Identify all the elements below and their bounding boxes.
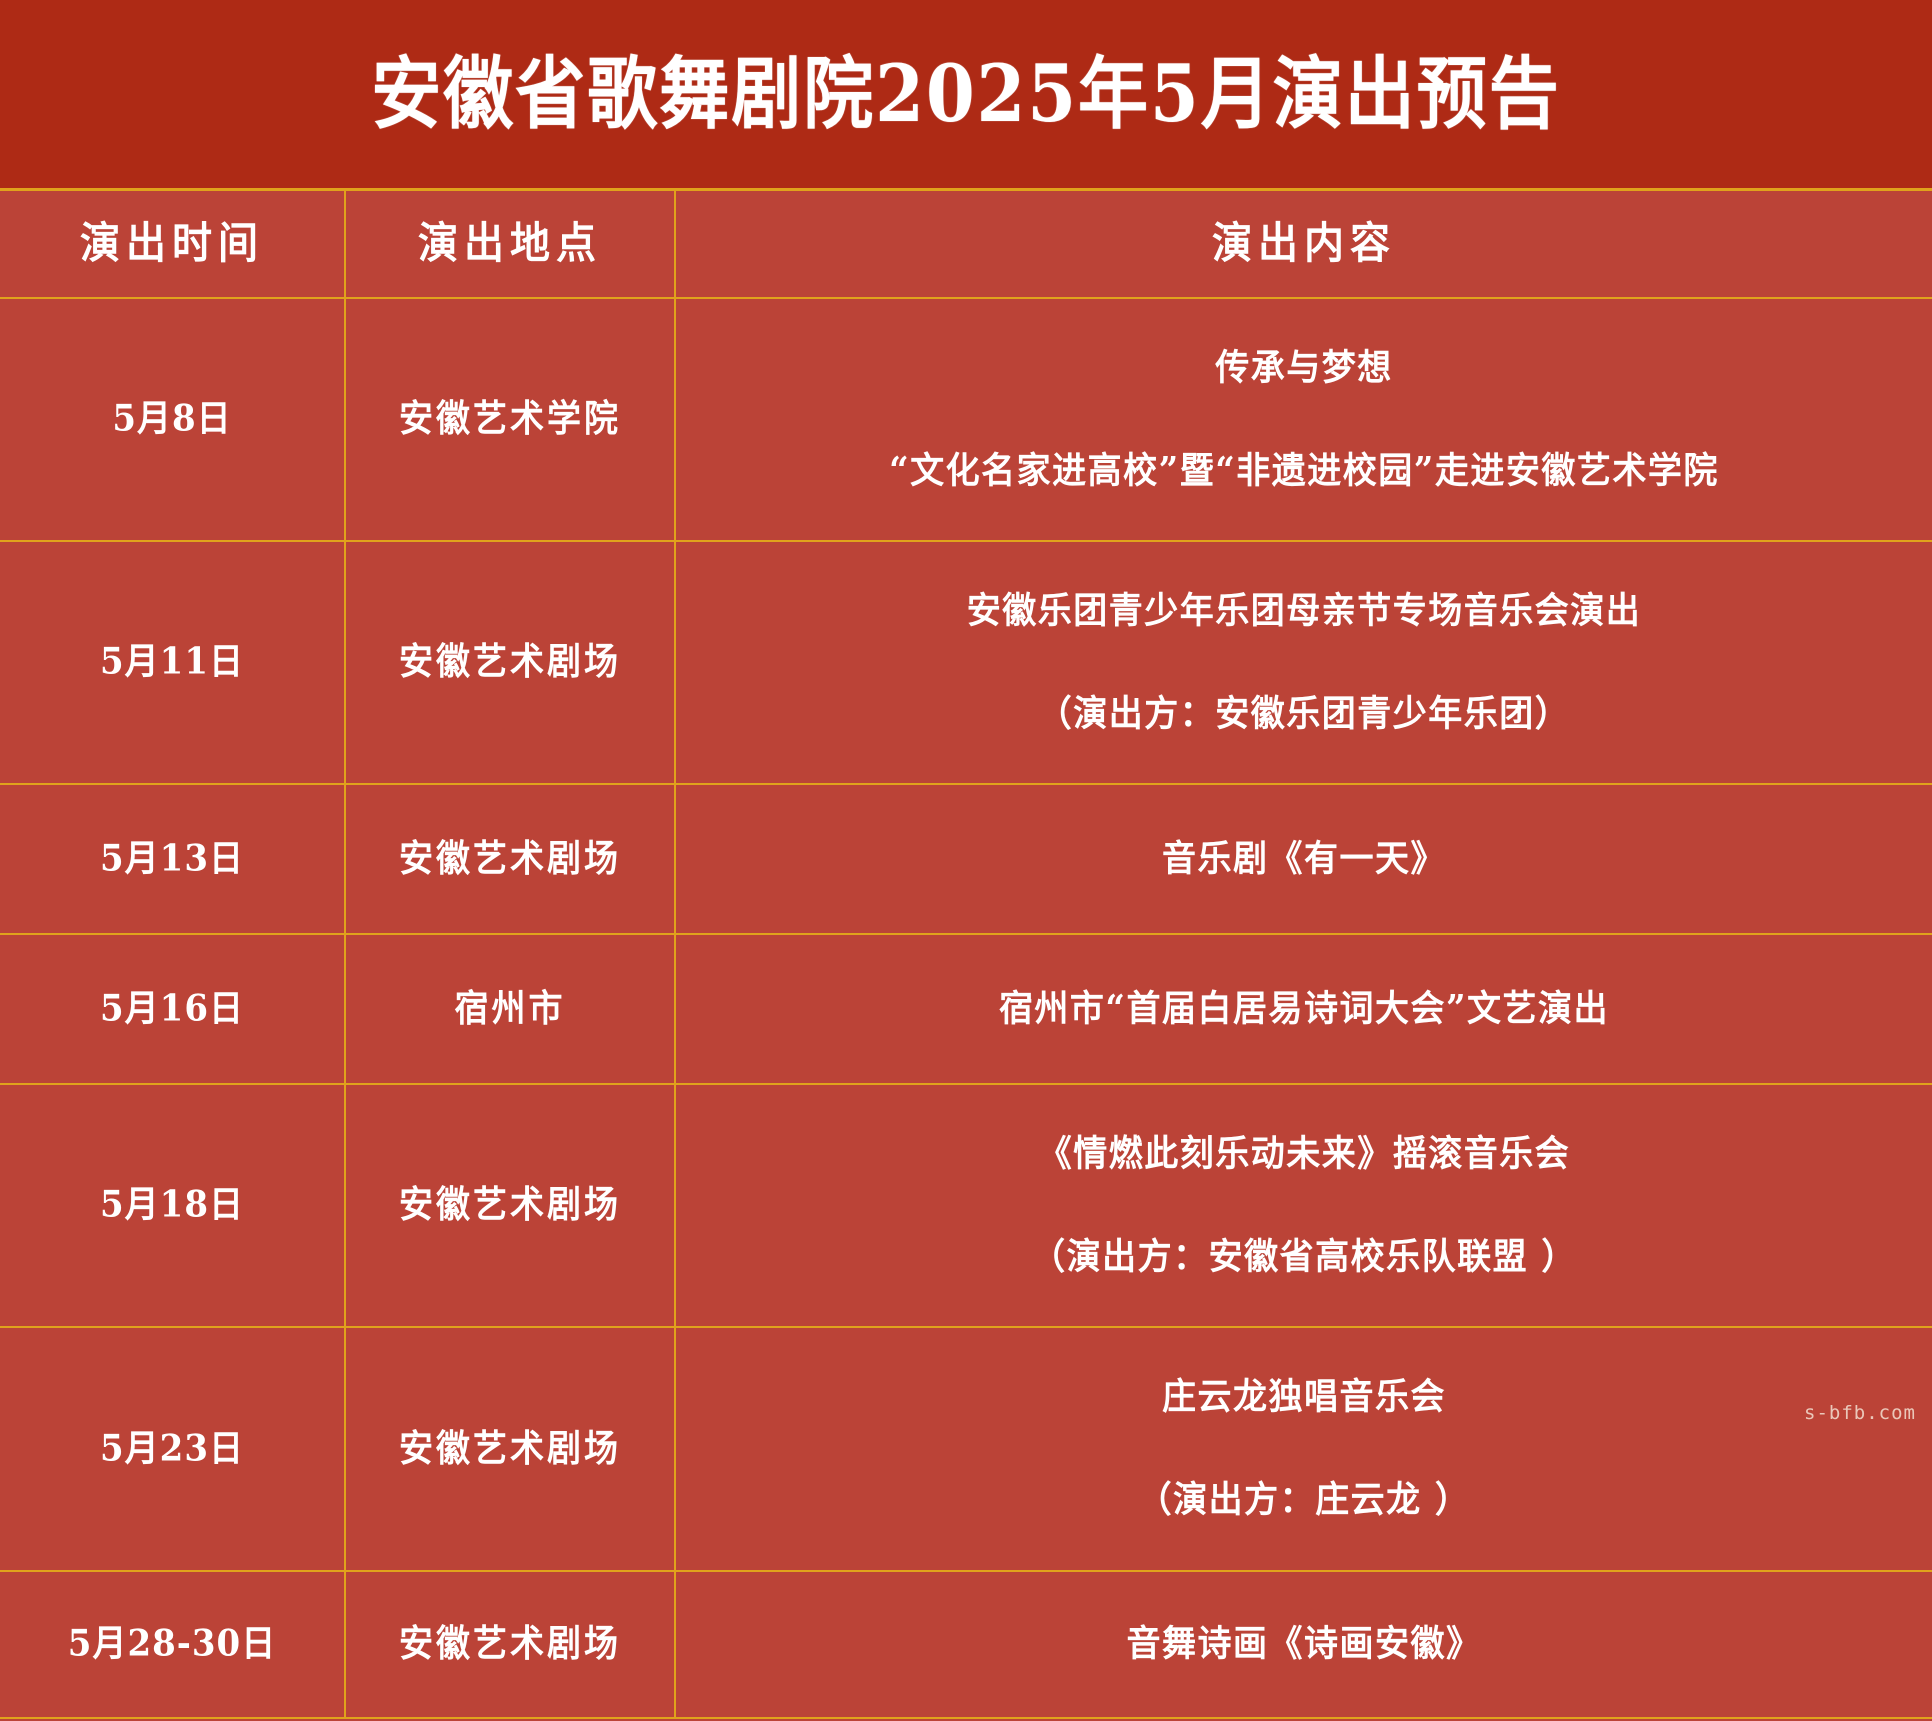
content-line: 宿州市“首届白居易诗词大会”文艺演出 bbox=[999, 984, 1609, 1035]
content-line: （演出方：安徽乐团青少年乐团） bbox=[967, 688, 1642, 739]
performance-content: 传承与梦想 “文化名家进高校”暨“非遗进校园”走进安徽艺术学院 bbox=[889, 291, 1719, 547]
table-row: 5月8日 安徽艺术学院 传承与梦想 “文化名家进高校”暨“非遗进校园”走进安徽艺… bbox=[0, 298, 1932, 541]
content-line: 安徽乐团青少年乐团母亲节专场音乐会演出 bbox=[967, 586, 1642, 637]
content-line: 音舞诗画《诗画安徽》 bbox=[1127, 1619, 1482, 1670]
table-row: 5月11日 安徽艺术剧场 安徽乐团青少年乐团母亲节专场音乐会演出 （演出方：安徽… bbox=[0, 541, 1932, 784]
cell-time: 5月13日 bbox=[0, 784, 345, 934]
cell-time: 5月16日 bbox=[0, 934, 345, 1084]
performance-content: 安徽乐团青少年乐团母亲节专场音乐会演出 （演出方：安徽乐团青少年乐团） bbox=[967, 535, 1642, 791]
cell-time: 5月23日 bbox=[0, 1327, 345, 1570]
cell-place: 安徽艺术剧场 bbox=[345, 1571, 675, 1718]
page-title: 安徽省歌舞剧院2025年5月演出预告 bbox=[371, 55, 1561, 133]
performance-date: 5月8日 bbox=[112, 398, 231, 439]
column-header-time: 演出时间 bbox=[0, 190, 345, 298]
content-line: “文化名家进高校”暨“非遗进校园”走进安徽艺术学院 bbox=[889, 445, 1719, 496]
performance-venue: 安徽艺术剧场 bbox=[399, 1428, 621, 1470]
performance-date: 5月18日 bbox=[100, 1185, 244, 1226]
performance-venue: 安徽艺术剧场 bbox=[399, 641, 621, 683]
cell-place: 宿州市 bbox=[345, 934, 675, 1084]
poster-title-band: 安徽省歌舞剧院2025年5月演出预告 bbox=[0, 0, 1932, 188]
schedule-table: 演出时间 演出地点 演出内容 5月8日 安徽艺术学院 bbox=[0, 188, 1932, 1719]
cell-place: 安徽艺术剧场 bbox=[345, 1084, 675, 1327]
performance-date: 5月23日 bbox=[100, 1428, 244, 1469]
performance-content: 音舞诗画《诗画安徽》 bbox=[1127, 1567, 1482, 1720]
table-row: 5月28-30日 安徽艺术剧场 音舞诗画《诗画安徽》 bbox=[0, 1571, 1932, 1718]
column-header-time-label: 演出时间 bbox=[80, 220, 264, 268]
schedule-table-body: 5月8日 安徽艺术学院 传承与梦想 “文化名家进高校”暨“非遗进校园”走进安徽艺… bbox=[0, 298, 1932, 1718]
cell-time: 5月18日 bbox=[0, 1084, 345, 1327]
cell-content: 安徽乐团青少年乐团母亲节专场音乐会演出 （演出方：安徽乐团青少年乐团） bbox=[675, 541, 1932, 784]
cell-content: 宿州市“首届白居易诗词大会”文艺演出 bbox=[675, 934, 1932, 1084]
cell-content: 传承与梦想 “文化名家进高校”暨“非遗进校园”走进安徽艺术学院 bbox=[675, 298, 1932, 541]
content-line: （演出方：安徽省高校乐队联盟 ） bbox=[1031, 1231, 1577, 1282]
table-row: 5月18日 安徽艺术剧场 《情燃此刻乐动未来》摇滚音乐会 （演出方：安徽省高校乐… bbox=[0, 1084, 1932, 1327]
performance-venue: 安徽艺术剧场 bbox=[399, 1185, 621, 1227]
cell-content: 音乐剧《有一天》 bbox=[675, 784, 1932, 934]
table-row: 5月13日 安徽艺术剧场 音乐剧《有一天》 bbox=[0, 784, 1932, 934]
performance-venue: 宿州市 bbox=[455, 988, 566, 1030]
cell-place: 安徽艺术剧场 bbox=[345, 784, 675, 934]
cell-place: 安徽艺术剧场 bbox=[345, 1327, 675, 1570]
performance-venue: 安徽艺术学院 bbox=[399, 398, 621, 440]
performance-content: 庄云龙独唱音乐会 （演出方：庄云龙 ） bbox=[1138, 1321, 1471, 1577]
performance-content: 宿州市“首届白居易诗词大会”文艺演出 bbox=[999, 932, 1609, 1085]
table-row: 5月16日 宿州市 宿州市“首届白居易诗词大会”文艺演出 bbox=[0, 934, 1932, 1084]
content-line: （演出方：庄云龙 ） bbox=[1138, 1475, 1471, 1526]
content-line: 庄云龙独唱音乐会 bbox=[1138, 1372, 1471, 1423]
column-header-place-label: 演出地点 bbox=[418, 220, 602, 268]
table-header-row: 演出时间 演出地点 演出内容 bbox=[0, 190, 1932, 298]
performance-venue: 安徽艺术剧场 bbox=[399, 838, 621, 880]
column-header-content: 演出内容 bbox=[675, 190, 1932, 298]
cell-time: 5月8日 bbox=[0, 298, 345, 541]
cell-content: 音舞诗画《诗画安徽》 bbox=[675, 1571, 1932, 1718]
site-watermark: s-bfb.com bbox=[1804, 1402, 1916, 1424]
cell-content: 庄云龙独唱音乐会 （演出方：庄云龙 ） bbox=[675, 1327, 1932, 1570]
column-header-place: 演出地点 bbox=[345, 190, 675, 298]
table-row: 5月23日 安徽艺术剧场 庄云龙独唱音乐会 （演出方：庄云龙 ） bbox=[0, 1327, 1932, 1570]
content-line: 《情燃此刻乐动未来》摇滚音乐会 bbox=[1031, 1129, 1577, 1180]
cell-time: 5月28-30日 bbox=[0, 1571, 345, 1718]
performance-date: 5月11日 bbox=[100, 642, 244, 683]
column-header-content-label: 演出内容 bbox=[1212, 220, 1396, 268]
performance-venue: 安徽艺术剧场 bbox=[399, 1623, 621, 1665]
performance-content: 音乐剧《有一天》 bbox=[1162, 782, 1446, 935]
performance-date: 5月16日 bbox=[100, 988, 244, 1029]
performance-date: 5月28-30日 bbox=[68, 1623, 276, 1664]
performance-schedule-poster: 安徽省歌舞剧院2025年5月演出预告 演出时间 演出地点 演出内容 bbox=[0, 0, 1932, 1432]
performance-date: 5月13日 bbox=[100, 838, 244, 879]
cell-place: 安徽艺术学院 bbox=[345, 298, 675, 541]
performance-content: 《情燃此刻乐动未来》摇滚音乐会 （演出方：安徽省高校乐队联盟 ） bbox=[1031, 1078, 1577, 1334]
cell-time: 5月11日 bbox=[0, 541, 345, 784]
content-line: 音乐剧《有一天》 bbox=[1162, 834, 1446, 885]
cell-content: 《情燃此刻乐动未来》摇滚音乐会 （演出方：安徽省高校乐队联盟 ） bbox=[675, 1084, 1932, 1327]
cell-place: 安徽艺术剧场 bbox=[345, 541, 675, 784]
content-line: 传承与梦想 bbox=[889, 342, 1719, 393]
